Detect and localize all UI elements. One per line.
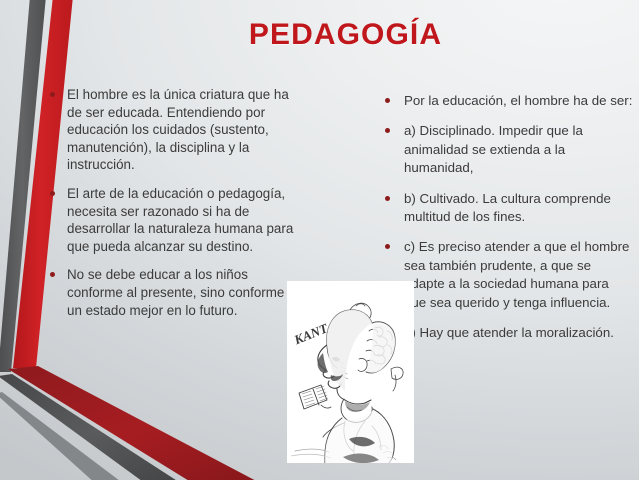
bullet-dot-icon (50, 272, 55, 277)
kant-caricature-image: KANT (287, 281, 414, 463)
bullet-dot-icon (385, 196, 390, 201)
list-item: El arte de la educación o pedagogía, nec… (48, 185, 296, 255)
slide-canvas: PEDAGOGÍA El hombre es la única criatura… (0, 0, 639, 480)
bullet-dot-icon (50, 92, 55, 97)
page-title: PEDAGOGÍA (0, 19, 639, 51)
stripe-gray-sliver (0, 392, 124, 480)
bullet-text: b) Cultivado. La cultura comprende multi… (404, 190, 634, 227)
bullet-text: d) Hay que atender la moralización. (404, 324, 634, 342)
list-item: d) Hay que atender la moralización. (382, 324, 634, 342)
bullet-dot-icon (385, 128, 390, 133)
bullet-text: c) Es preciso atender a que el hombre se… (404, 238, 634, 312)
bullet-text: Por la educación, el hombre ha de ser: (404, 92, 634, 110)
right-text-column: Por la educación, el hombre ha de ser: a… (382, 92, 634, 354)
bullet-dot-icon (50, 191, 55, 196)
stripe-gray-upper (0, 0, 46, 372)
list-item: c) Es preciso atender a que el hombre se… (382, 238, 634, 312)
bullet-text: El arte de la educación o pedagogía, nec… (67, 185, 296, 255)
stripe-red-lower (8, 366, 262, 480)
list-item: Por la educación, el hombre ha de ser: (382, 92, 634, 110)
bullet-dot-icon (385, 244, 390, 249)
bullet-dot-icon (385, 98, 390, 103)
bullet-text: a) Disciplinado. Impedir que la animalid… (404, 122, 634, 177)
list-item: a) Disciplinado. Impedir que la animalid… (382, 122, 634, 177)
stripe-gray-lower (0, 374, 182, 480)
bullet-text: El hombre es la única criatura que ha de… (67, 86, 296, 174)
list-item: No se debe educar a los niños conforme a… (48, 266, 296, 319)
left-text-column: El hombre es la única criatura que ha de… (48, 86, 296, 330)
list-item: El hombre es la única criatura que ha de… (48, 86, 296, 174)
bullet-text: No se debe educar a los niños conforme a… (67, 266, 296, 319)
list-item: b) Cultivado. La cultura comprende multi… (382, 190, 634, 227)
